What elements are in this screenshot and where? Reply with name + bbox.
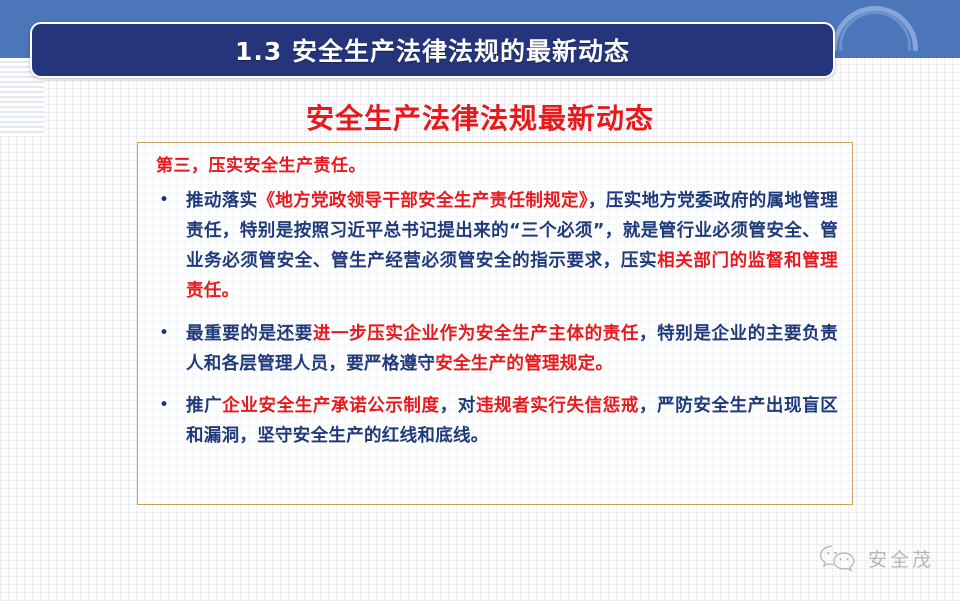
- bullet-list: •推动落实《地方党政领导干部安全生产责任制规定》，压实地方党委政府的属地管理责任…: [152, 186, 838, 451]
- bullet-text-segment: 安全生产的管理规定。: [435, 354, 613, 374]
- bullet-item: •推动落实《地方党政领导干部安全生产责任制规定》，压实地方党委政府的属地管理责任…: [152, 186, 838, 306]
- watermark-label: 安全茂: [868, 545, 934, 572]
- bullet-text-segment: 企业安全生产承诺公示制度: [222, 396, 439, 416]
- content-panel: 第三，压实安全生产责任。 •推动落实《地方党政领导干部安全生产责任制规定》，压实…: [137, 142, 853, 505]
- wechat-icon: [817, 543, 859, 573]
- bullet-text-segment: 违规者实行失信惩戒: [476, 396, 639, 416]
- bullet-marker-icon: •: [152, 391, 186, 420]
- bullet-text-segment: ，对: [440, 396, 476, 416]
- slide-canvas: 1.3 安全生产法律法规的最新动态 安全生产法律法规最新动态 第三，压实安全生产…: [0, 0, 960, 601]
- bullet-marker-icon: •: [152, 186, 186, 215]
- lead-statement: 第三，压实安全生产责任。: [156, 153, 838, 180]
- bullet-item: •推广企业安全生产承诺公示制度，对违规者实行失信惩戒，严防安全生产出现盲区和漏洞…: [152, 391, 838, 451]
- bullet-text-segment: 最重要的是还要: [186, 324, 313, 344]
- bullet-item: •最重要的是还要进一步压实企业作为安全生产主体的责任，特别是企业的主要负责人和各…: [152, 319, 838, 379]
- slide-subtitle: 安全生产法律法规最新动态: [0, 97, 960, 137]
- bullet-text-segment: 推广: [186, 396, 222, 416]
- bullet-text: 推动落实《地方党政领导干部安全生产责任制规定》，压实地方党委政府的属地管理责任，…: [186, 186, 838, 306]
- bullet-text-segment: 《地方党政领导干部安全生产责任制规定》: [257, 191, 588, 211]
- bullet-text: 最重要的是还要进一步压实企业作为安全生产主体的责任，特别是企业的主要负责人和各层…: [186, 319, 838, 379]
- bullet-text-segment: 进一步压实企业作为安全生产主体的责任: [313, 324, 639, 344]
- watermark: 安全茂: [817, 543, 934, 573]
- page-title: 1.3 安全生产法律法规的最新动态: [235, 32, 630, 68]
- bullet-marker-icon: •: [152, 319, 186, 348]
- bullet-text: 推广企业安全生产承诺公示制度，对违规者实行失信惩戒，严防安全生产出现盲区和漏洞，…: [186, 391, 838, 451]
- bullet-text-segment: 推动落实: [186, 191, 257, 211]
- slide-title-bar: 1.3 安全生产法律法规的最新动态: [30, 22, 835, 78]
